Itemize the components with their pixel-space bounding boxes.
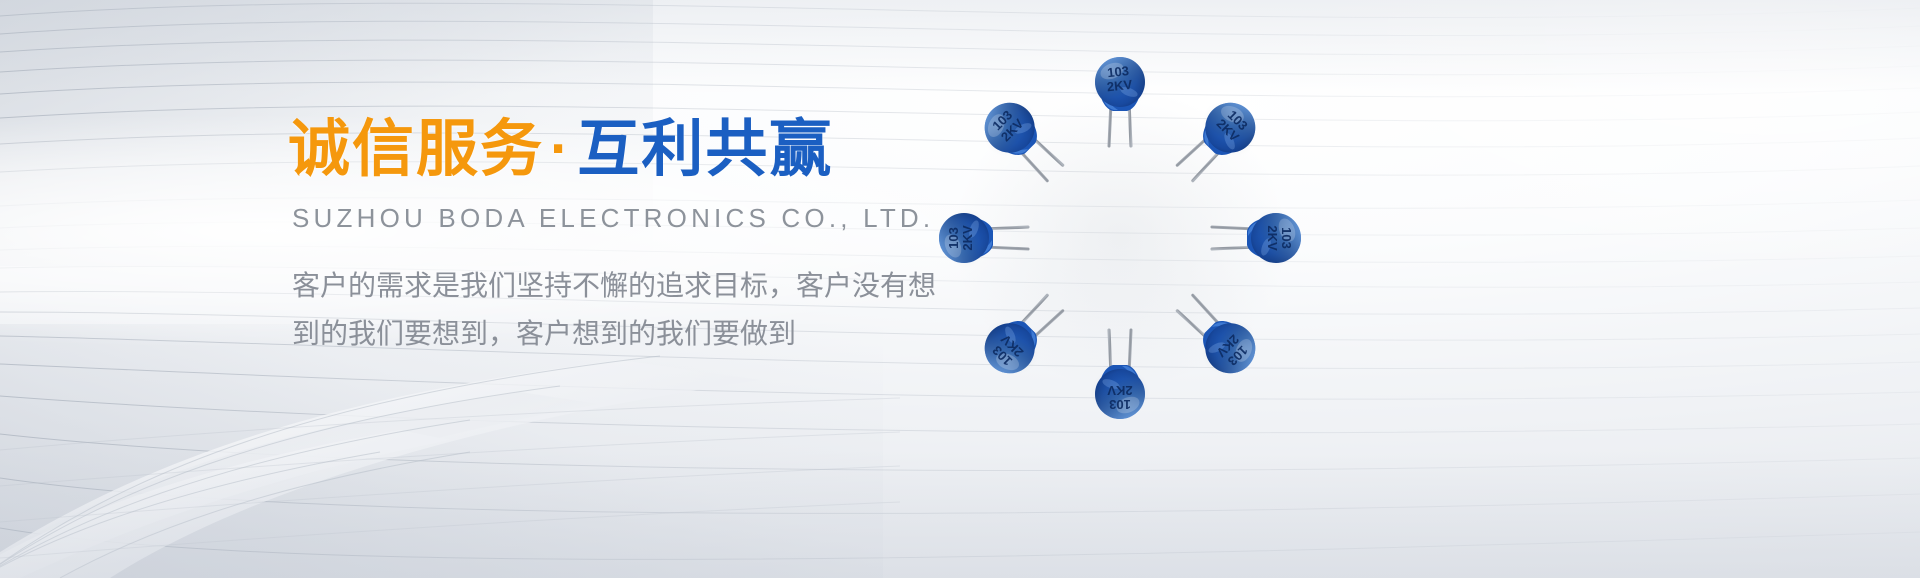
hero-banner: 诚信服务·互利共赢 SUZHOU BODA ELECTRONICS CO., L… xyxy=(0,0,1920,578)
svg-text:2KV: 2KV xyxy=(1107,383,1133,398)
headline-part-orange: 诚信服务 xyxy=(288,115,544,184)
headline-separator-dot: · xyxy=(544,116,577,181)
banner-text-block: 诚信服务·互利共赢 SUZHOU BODA ELECTRONICS CO., L… xyxy=(288,118,1048,359)
svg-text:2KV: 2KV xyxy=(1106,77,1133,95)
svg-text:103: 103 xyxy=(1109,397,1131,412)
description-line-2: 到的我们要想到，客户想到的我们要做到 xyxy=(292,310,932,358)
headline-part-blue: 互利共赢 xyxy=(577,115,833,184)
svg-text:103: 103 xyxy=(946,227,961,249)
page-title: 诚信服务·互利共赢 xyxy=(288,118,1048,181)
svg-text:2KV: 2KV xyxy=(960,225,975,251)
svg-text:2KV: 2KV xyxy=(1265,225,1280,251)
banner-description: 客户的需求是我们坚持不懈的追求目标，客户没有想 到的我们要想到，客户想到的我们要… xyxy=(292,262,932,358)
svg-text:103: 103 xyxy=(1279,227,1294,249)
description-line-1: 客户的需求是我们坚持不懈的追求目标，客户没有想 xyxy=(292,262,932,310)
company-name-english: SUZHOU BODA ELECTRONICS CO., LTD. xyxy=(292,203,1048,234)
product-image-capacitor-ring: 103 2KV 103 2KV 103 2KV xyxy=(940,48,1300,408)
